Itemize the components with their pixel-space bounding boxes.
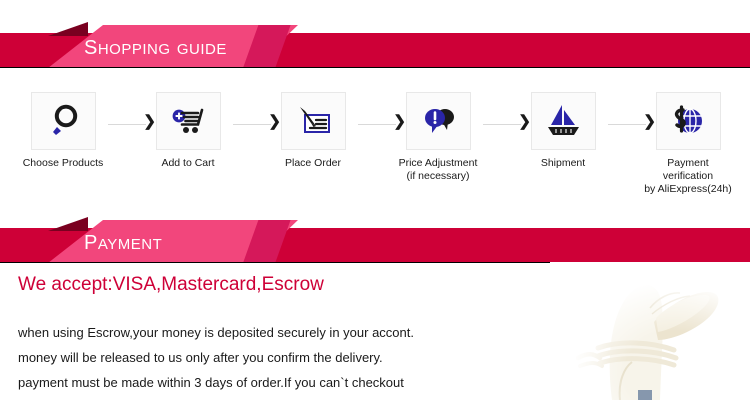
- arrow-line: [608, 124, 646, 125]
- pen-form-icon: [294, 102, 332, 140]
- banner-corner-shadow: [48, 22, 88, 36]
- step-shipment[interactable]: Shipment: [518, 92, 608, 170]
- payment-title: Payment: [84, 224, 162, 256]
- step-icon-box: [531, 92, 596, 150]
- arrow-line: [358, 124, 396, 125]
- step-icon-box: [656, 92, 721, 150]
- accepted-payments-heading: We accept:VISA,Mastercard,Escrow: [18, 274, 324, 296]
- photo-fade-overlay: [550, 262, 750, 400]
- step-icon-box: [31, 92, 96, 150]
- step-label-secondary: by AliExpress(24h): [643, 183, 733, 196]
- step-icon-box: [156, 92, 221, 150]
- shopping-guide-banner: Shopping guide: [0, 22, 750, 68]
- product-pouch-photo: [550, 262, 750, 400]
- step-label: Payment verification: [643, 157, 733, 183]
- step-label-secondary: (if necessary): [393, 170, 483, 183]
- payment-line: money will be released to us only after …: [18, 345, 538, 370]
- step-label: Add to Cart: [143, 157, 233, 170]
- arrow-line: [483, 124, 521, 125]
- shopping-guide-title: Shopping guide: [84, 29, 227, 61]
- shopping-cart-plus-icon: [169, 102, 207, 140]
- step-place-order[interactable]: Place Order: [268, 92, 358, 170]
- step-price-adjustment[interactable]: Price Adjustment (if necessary): [393, 92, 483, 183]
- payment-banner: Payment: [0, 217, 750, 263]
- step-label: Shipment: [518, 157, 608, 170]
- step-icon-box: [406, 92, 471, 150]
- step-label: Price Adjustment: [393, 157, 483, 170]
- arrow-line: [108, 124, 146, 125]
- step-payment-verification[interactable]: Payment verification by AliExpress(24h): [643, 92, 733, 196]
- step-label: Place Order: [268, 157, 358, 170]
- shopping-steps: Choose Products ❯ Add to Cart ❯: [0, 92, 750, 192]
- arrow-line: [233, 124, 271, 125]
- magnifier-icon: [44, 102, 82, 140]
- step-icon-box: [281, 92, 346, 150]
- payment-line: payment must be made within 3 days of or…: [18, 370, 538, 395]
- speech-bubbles-icon: [419, 102, 457, 140]
- sailboat-icon: [543, 102, 583, 140]
- payment-line: when using Escrow,your money is deposite…: [18, 320, 538, 345]
- banner-underline: [0, 67, 750, 68]
- globe-dollar-icon: [669, 102, 707, 140]
- payment-description: when using Escrow,your money is deposite…: [18, 320, 538, 395]
- step-choose-products[interactable]: Choose Products: [18, 92, 108, 170]
- step-add-to-cart[interactable]: Add to Cart: [143, 92, 233, 170]
- step-label: Choose Products: [18, 157, 108, 170]
